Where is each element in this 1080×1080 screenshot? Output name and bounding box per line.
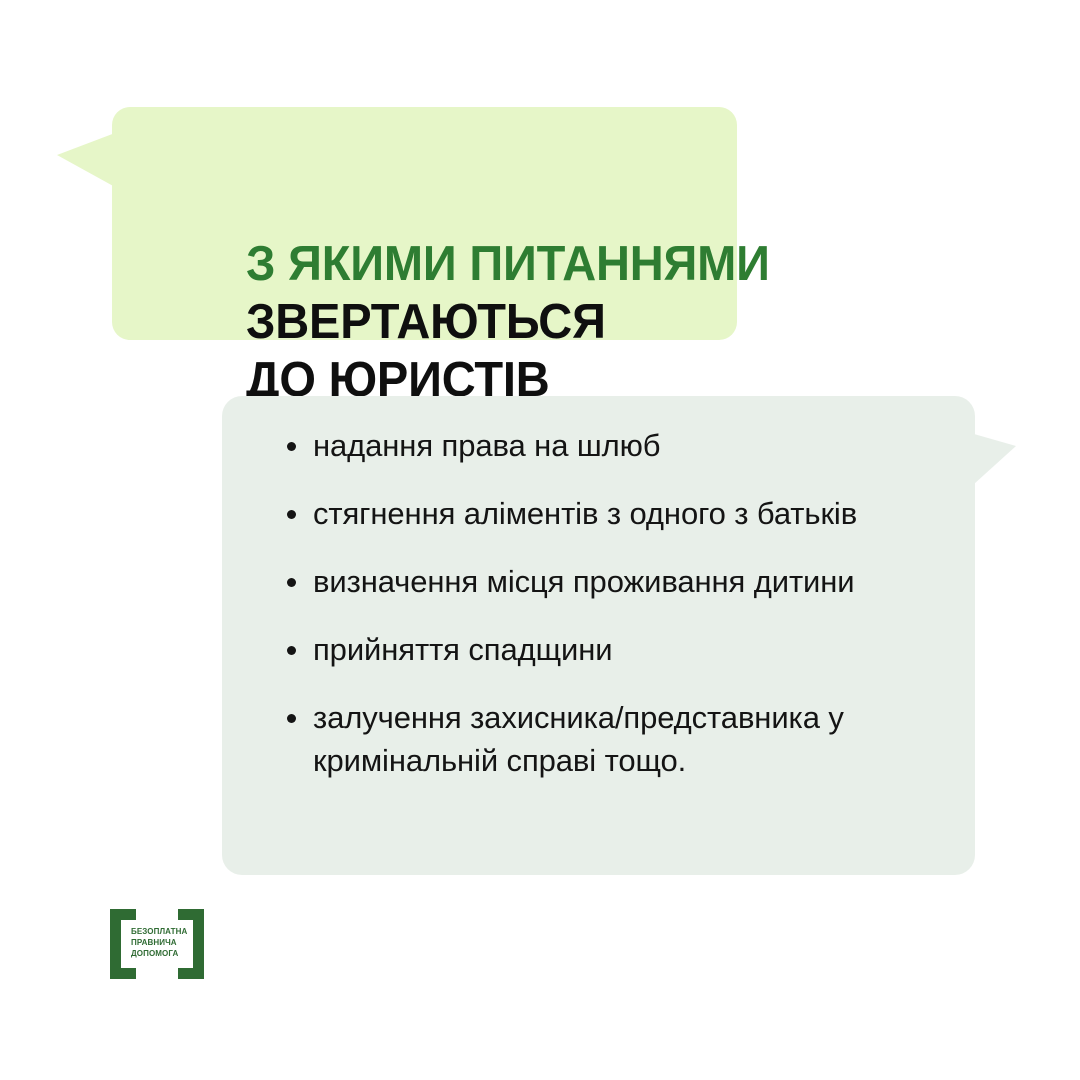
list-item: стягнення аліментів з одного з батьків — [284, 492, 964, 535]
logo-wordmark: БЕЗОПЛАТНА ПРАВНИЧА ДОПОМОГА — [131, 926, 187, 959]
title-line-1: З ЯКИМИ ПИТАННЯМИ — [246, 235, 812, 293]
list-item: залучення захисника/представника у кримі… — [284, 696, 964, 782]
logo-line-1: БЕЗОПЛАТНА — [131, 926, 187, 937]
list-bubble-tail — [974, 434, 1016, 484]
logo-line-3: ДОПОМОГА — [131, 948, 187, 959]
logo-line-2: ПРАВНИЧА — [131, 937, 187, 948]
title-line-2: ЗВЕРТАЮТЬСЯ — [246, 293, 812, 351]
list-item: прийняття спадщини — [284, 628, 964, 671]
list-item: визначення місця проживання дитини — [284, 560, 964, 603]
title-speech-bubble: З ЯКИМИ ПИТАННЯМИ ЗВЕРТАЮТЬСЯ ДО ЮРИСТІВ — [112, 107, 737, 340]
topics-list: надання права на шлюб стягнення аліменті… — [284, 424, 964, 782]
brand-logo: БЕЗОПЛАТНА ПРАВНИЧА ДОПОМОГА — [110, 909, 204, 979]
list-item: надання права на шлюб — [284, 424, 964, 467]
title-bubble-tail — [57, 133, 115, 187]
page-title: З ЯКИМИ ПИТАННЯМИ ЗВЕРТАЮТЬСЯ ДО ЮРИСТІВ — [246, 235, 836, 409]
